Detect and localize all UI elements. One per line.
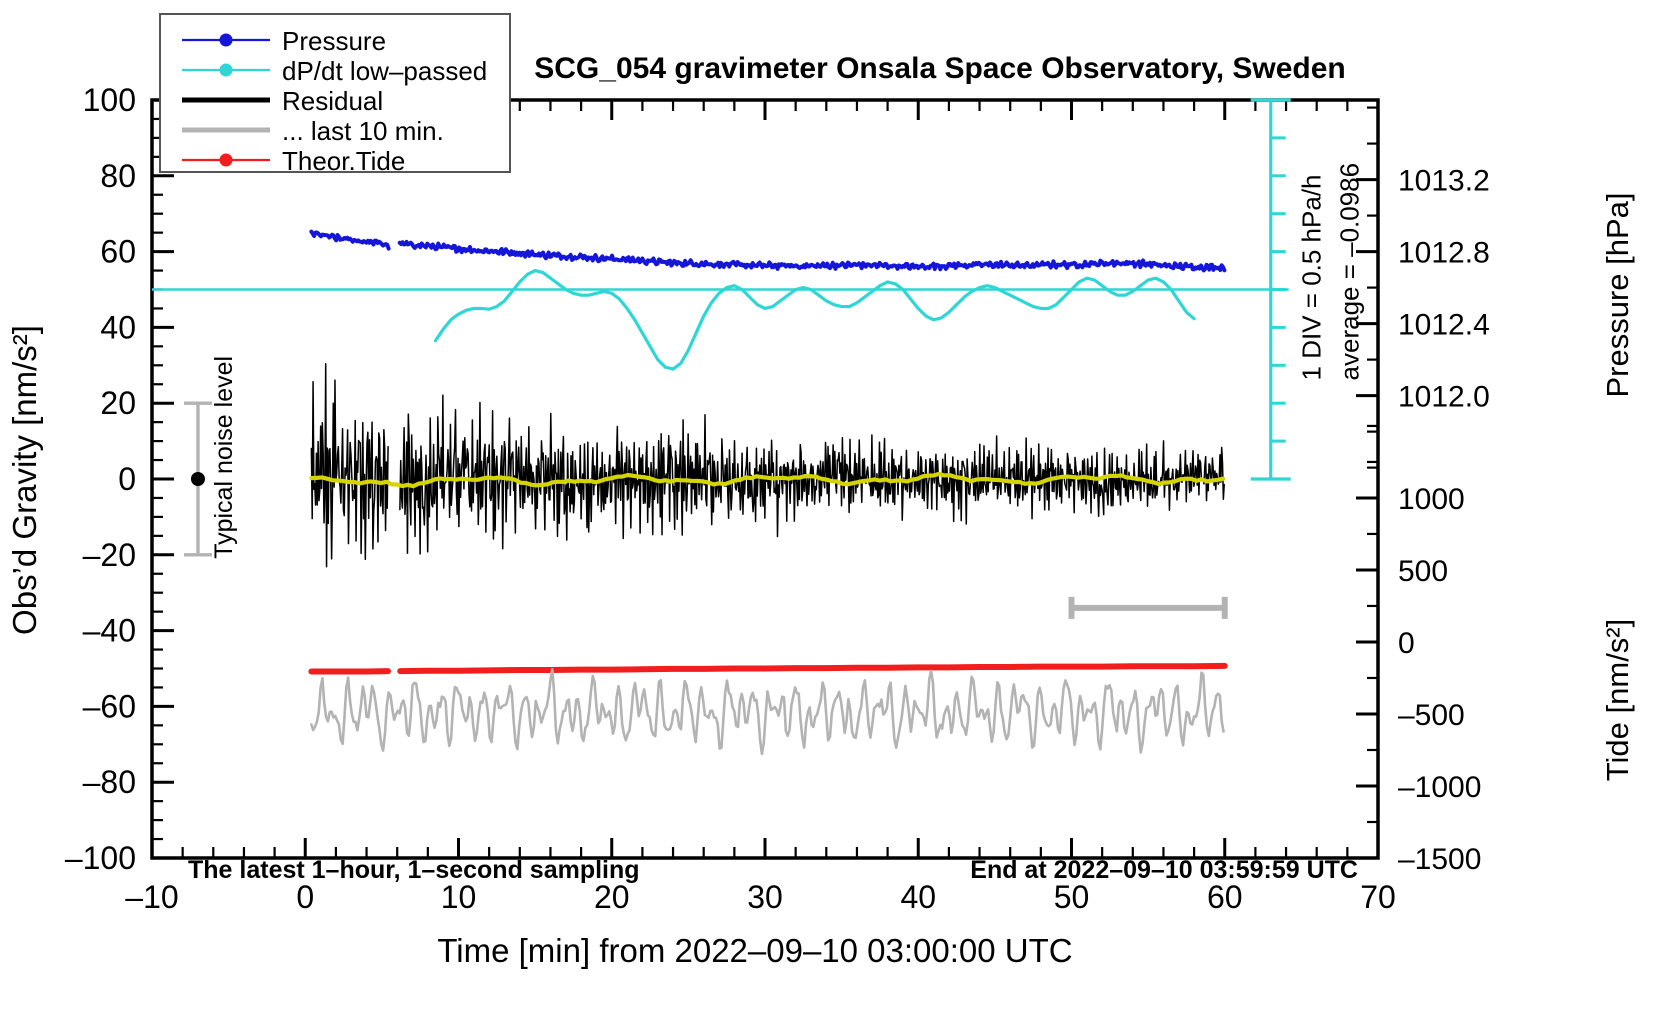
x-tick-label: –10 <box>125 879 178 915</box>
footer-left-note: The latest 1–hour, 1–second sampling <box>188 856 640 884</box>
dpdt-division-label: 1 DIV = 0.5 hPa/h <box>1297 174 1327 380</box>
legend-marker-5 <box>220 154 233 167</box>
legend[interactable]: PressuredP/dt low–passedResidual... last… <box>160 14 510 176</box>
y-axis-label-pressure: Pressure [hPa] <box>1600 192 1635 397</box>
right-tick-label-tide: 1000 <box>1398 483 1465 516</box>
right-tick-label-pressure: 1012.0 <box>1398 381 1490 414</box>
x-tick-label: 50 <box>1054 879 1090 915</box>
x-tick-label: 20 <box>594 879 630 915</box>
x-tick-label: 30 <box>747 879 783 915</box>
y-tick-label: –60 <box>83 688 136 724</box>
legend-label-4[interactable]: ... last 10 min. <box>282 116 444 146</box>
noise-center-dot <box>191 472 205 486</box>
y-tick-label: –100 <box>65 840 136 876</box>
y-tick-label: 60 <box>100 234 136 270</box>
legend-label-2[interactable]: dP/dt low–passed <box>282 56 487 86</box>
right-tick-label-pressure: 1013.2 <box>1398 165 1490 198</box>
y-tick-label: 20 <box>100 385 136 421</box>
gravimeter-plot-figure: –10010203040506070 –100–80–60–40–2002040… <box>0 0 1660 1020</box>
x-tick-label: 70 <box>1360 879 1396 915</box>
y-tick-label: 0 <box>118 461 136 497</box>
y-tick-label: –80 <box>83 764 136 800</box>
page-title: SCG_054 gravimeter Onsala Space Observat… <box>534 52 1346 85</box>
x-tick-label: 10 <box>441 879 477 915</box>
y-tick-label: 100 <box>83 82 136 118</box>
y-tick-label: –40 <box>83 613 136 649</box>
legend-label-3[interactable]: Residual <box>282 86 383 116</box>
x-tick-label: 60 <box>1207 879 1243 915</box>
y-tick-label: 80 <box>100 158 136 194</box>
legend-marker-1 <box>220 34 233 47</box>
right-tick-label-tide: 0 <box>1398 627 1415 660</box>
x-axis-label: Time [min] from 2022–09–10 03:00:00 UTC <box>437 932 1072 969</box>
x-tick-label: 0 <box>296 879 314 915</box>
x-tick-label: 40 <box>900 879 936 915</box>
plot-canvas: –10010203040506070 –100–80–60–40–2002040… <box>0 0 1660 1020</box>
right-tick-label-tide: –500 <box>1398 699 1465 732</box>
right-tick-label-pressure: 1012.8 <box>1398 237 1490 270</box>
right-tick-label-tide: –1000 <box>1398 771 1481 804</box>
footer-right-note: End at 2022–09–10 03:59:59 UTC <box>970 856 1358 884</box>
legend-label-1[interactable]: Pressure <box>282 26 386 56</box>
y-tick-label: 40 <box>100 309 136 345</box>
y-axis-label-tide: Tide [nm/s²] <box>1600 619 1635 782</box>
right-tick-label-tide: 500 <box>1398 555 1448 588</box>
right-tick-label-pressure: 1012.4 <box>1398 309 1490 342</box>
dpdt-average-label: average = –0.0986 <box>1335 163 1365 381</box>
legend-label-5[interactable]: Theor.Tide <box>282 146 405 176</box>
y-tick-label: –20 <box>83 537 136 573</box>
right-tick-label-tide: –1500 <box>1398 843 1481 876</box>
legend-marker-2 <box>220 64 233 77</box>
y-axis-label-left: Obs’d Gravity [nm/s²] <box>6 325 43 635</box>
noise-level-label: Typical noise level <box>210 356 238 559</box>
